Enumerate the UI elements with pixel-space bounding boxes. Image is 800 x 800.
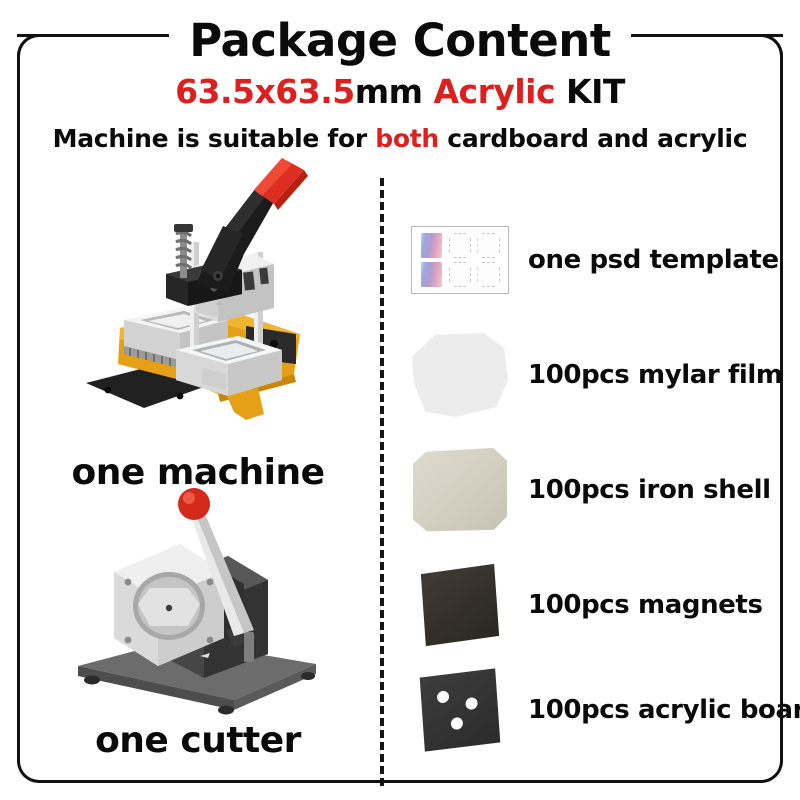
list-item: one psd template — [400, 210, 796, 310]
badge-press-machine-icon: ''' — [68, 168, 348, 453]
psd-template-icon — [400, 210, 520, 310]
right-column: one psd template 100pcs mylar film 100pc… — [400, 180, 796, 780]
subtitle-kit: KIT — [555, 72, 625, 111]
list-item: 100pcs magnets — [400, 555, 796, 655]
circle-cutter-icon — [58, 488, 348, 723]
psd-cell-outline — [449, 233, 472, 258]
product-tagline: Machine is suitable for both cardboard a… — [0, 124, 800, 153]
iron-shell-icon — [400, 440, 520, 540]
left-item-caption-machine: one machine — [18, 452, 378, 493]
psd-cell-outline — [449, 262, 472, 287]
list-item: 100pcs iron shell — [400, 440, 796, 540]
mylar-film-shape — [412, 333, 508, 417]
list-item: 100pcs mylar film — [400, 325, 796, 425]
mylar-film-icon — [400, 325, 520, 425]
magnet-shape — [421, 564, 499, 646]
column-divider — [380, 178, 384, 786]
acrylic-hole — [451, 717, 464, 730]
subtitle-material: Acrylic — [433, 72, 555, 111]
subtitle-unit: mm — [355, 72, 434, 111]
psd-cell-image — [421, 262, 442, 287]
left-column: ''' — [18, 168, 378, 786]
acrylic-board-icon — [400, 660, 520, 760]
svg-text:''': ''' — [216, 302, 222, 310]
tagline-highlight: both — [375, 124, 439, 153]
right-item-label: 100pcs iron shell — [520, 475, 771, 505]
iron-shell-shape — [411, 447, 510, 532]
list-item: 100pcs acrylic board — [400, 660, 796, 760]
acrylic-hole — [465, 697, 478, 710]
psd-cell-outline — [477, 262, 500, 287]
right-item-label: 100pcs magnets — [520, 590, 763, 620]
right-item-label: 100pcs mylar film — [520, 360, 783, 390]
psd-cell-image — [421, 233, 442, 258]
tagline-before: Machine is suitable for — [53, 124, 376, 153]
left-item-caption-cutter: one cutter — [18, 720, 378, 761]
acrylic-hole — [437, 690, 450, 703]
right-item-label: one psd template — [520, 245, 779, 275]
tagline-after: cardboard and acrylic — [439, 124, 747, 153]
magnet-icon — [400, 555, 520, 655]
right-item-label: 100pcs acrylic board — [520, 695, 800, 725]
product-subtitle: 63.5x63.5mm Acrylic KIT — [0, 72, 800, 111]
psd-cell-outline — [477, 233, 500, 258]
subtitle-dimensions: 63.5x63.5 — [175, 72, 355, 111]
page-title: Package Content — [0, 14, 800, 67]
acrylic-board-shape — [420, 668, 501, 751]
package-content-infographic: Package Content 63.5x63.5mm Acrylic KIT … — [0, 0, 800, 800]
psd-template-grid — [411, 226, 509, 294]
